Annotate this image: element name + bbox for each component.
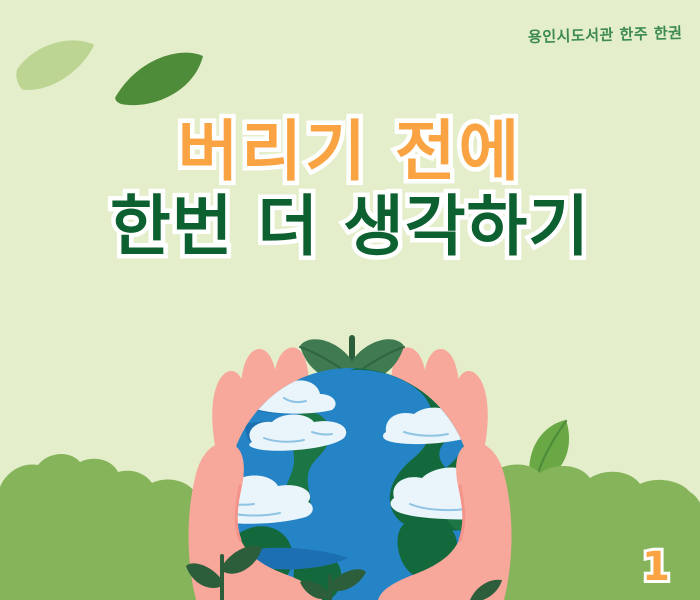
page-number: 1 — [642, 544, 670, 590]
title-line-1: 버리기 전에 — [0, 118, 700, 185]
hands-and-globe-illustration — [0, 0, 700, 600]
poster-canvas: 용인시도서관 한주 한권 버리기 전에 한번 더 생각하기 1 — [0, 0, 700, 600]
brand-handwriting-label: 용인시도서관 한주 한권 — [527, 22, 682, 47]
title-line-2: 한번 더 생각하기 — [0, 193, 700, 260]
poster-title: 버리기 전에 한번 더 생각하기 — [0, 118, 700, 261]
